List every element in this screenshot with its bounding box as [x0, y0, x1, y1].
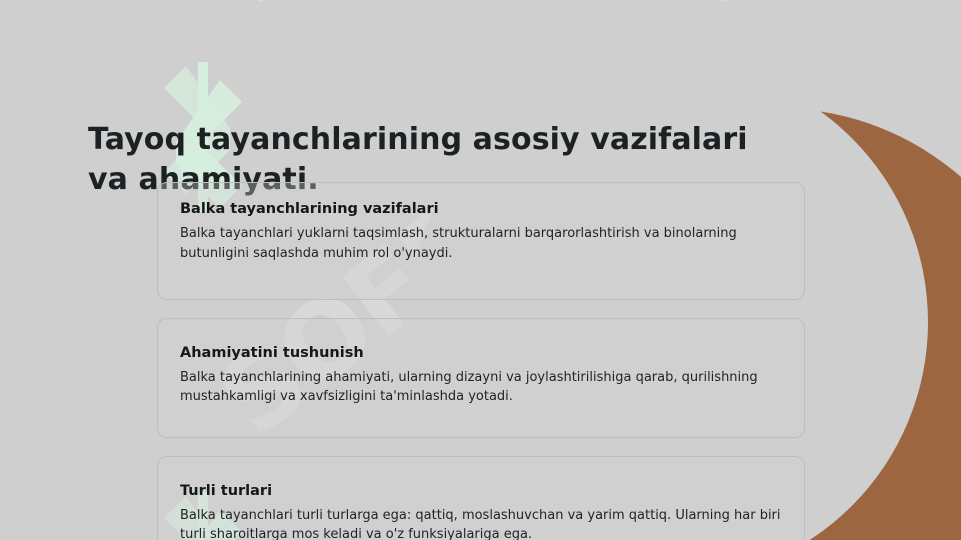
card-body: Balka tayanchlari yuklarni taqsimlash, s… [180, 224, 782, 262]
card-body: Balka tayanchlarining ahamiyati, ularnin… [180, 368, 782, 406]
presentation-slide: SOFF SOFF SOFF SOFF Tayoq tayanchlarinin… [0, 0, 961, 540]
card-title: Turli turlari [180, 483, 782, 500]
card-list: Balka tayanchlarining vazifalari Balka t… [157, 182, 805, 540]
content-card[interactable]: Ahamiyatini tushunish Balka tayanchlarin… [157, 318, 805, 438]
content-card[interactable]: Balka tayanchlarining vazifalari Balka t… [157, 182, 805, 300]
card-title: Ahamiyatini tushunish [180, 345, 782, 362]
content-card[interactable]: Turli turlari Balka tayanchlari turli tu… [157, 456, 805, 540]
card-title: Balka tayanchlarining vazifalari [180, 201, 782, 218]
card-body: Balka tayanchlari turli turlarga ega: qa… [180, 506, 782, 540]
slide-content: Tayoq tayanchlarining asosiy vazifalari … [0, 0, 961, 540]
